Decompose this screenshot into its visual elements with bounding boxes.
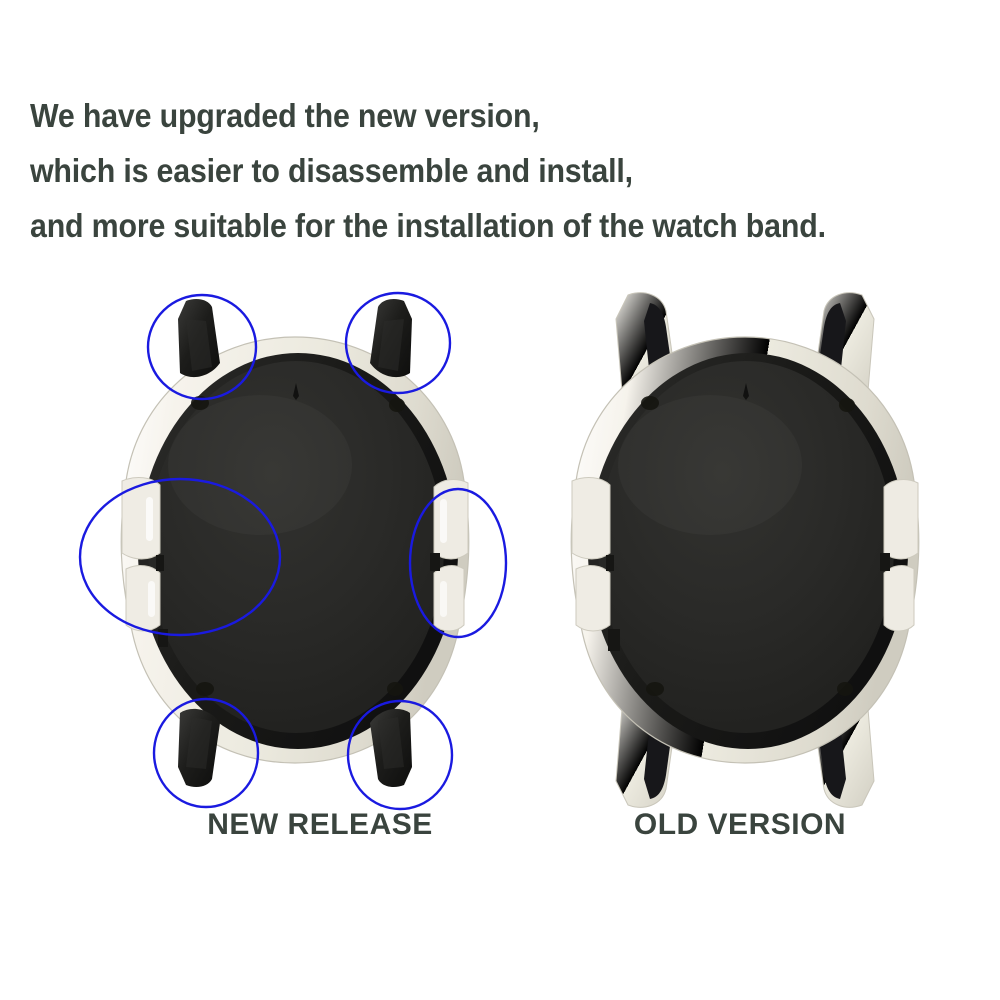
headline-block: We have upgraded the new version, which … — [30, 88, 980, 253]
left-button-ridge-lower — [148, 581, 155, 617]
headline-line-3: and more suitable for the installation o… — [30, 198, 904, 253]
watch-case-old-version — [510, 285, 980, 815]
left-button-gap-upper — [156, 555, 164, 571]
left-button-cutout-lower-old — [576, 566, 610, 631]
watch-case-new-release — [60, 285, 530, 815]
left-button-gap-upper-old — [606, 555, 614, 571]
right-button-gap-upper-old — [880, 553, 890, 571]
screw-dot-bottom-right — [387, 682, 403, 696]
caption-old-version: OLD VERSION — [560, 808, 920, 842]
headline-line-2: which is easier to disassemble and insta… — [30, 143, 904, 198]
screen-highlight-old — [618, 395, 802, 535]
right-button-ridge-lower — [440, 581, 447, 617]
screw-dot-bottom-right-old — [837, 682, 853, 696]
figure-row — [0, 285, 1000, 815]
right-button-cutout-lower-old — [884, 566, 914, 631]
screw-dot-bottom-left-old — [646, 682, 664, 696]
right-button-gap-upper — [430, 553, 440, 571]
product-comparison-image: We have upgraded the new version, which … — [0, 0, 1000, 1000]
right-button-cutout-upper-old — [884, 480, 918, 559]
right-button-cutout-upper — [434, 480, 468, 559]
caption-new-release: NEW RELEASE — [120, 808, 520, 842]
screw-dot-top-right — [389, 398, 405, 412]
left-button-cutout-upper-old — [572, 478, 610, 559]
screw-dot-top-left-old — [641, 396, 659, 410]
right-button-cutout-lower — [434, 566, 464, 631]
screw-dot-bottom-left — [196, 682, 214, 696]
left-button-gap-lower-old — [608, 629, 620, 651]
left-button-ridge-upper — [146, 497, 153, 541]
right-button-ridge-upper — [440, 499, 447, 543]
screen-highlight — [168, 395, 352, 535]
left-button-gap-lower — [158, 629, 168, 647]
headline-line-1: We have upgraded the new version, — [30, 88, 904, 143]
screw-dot-top-right-old — [839, 398, 855, 412]
